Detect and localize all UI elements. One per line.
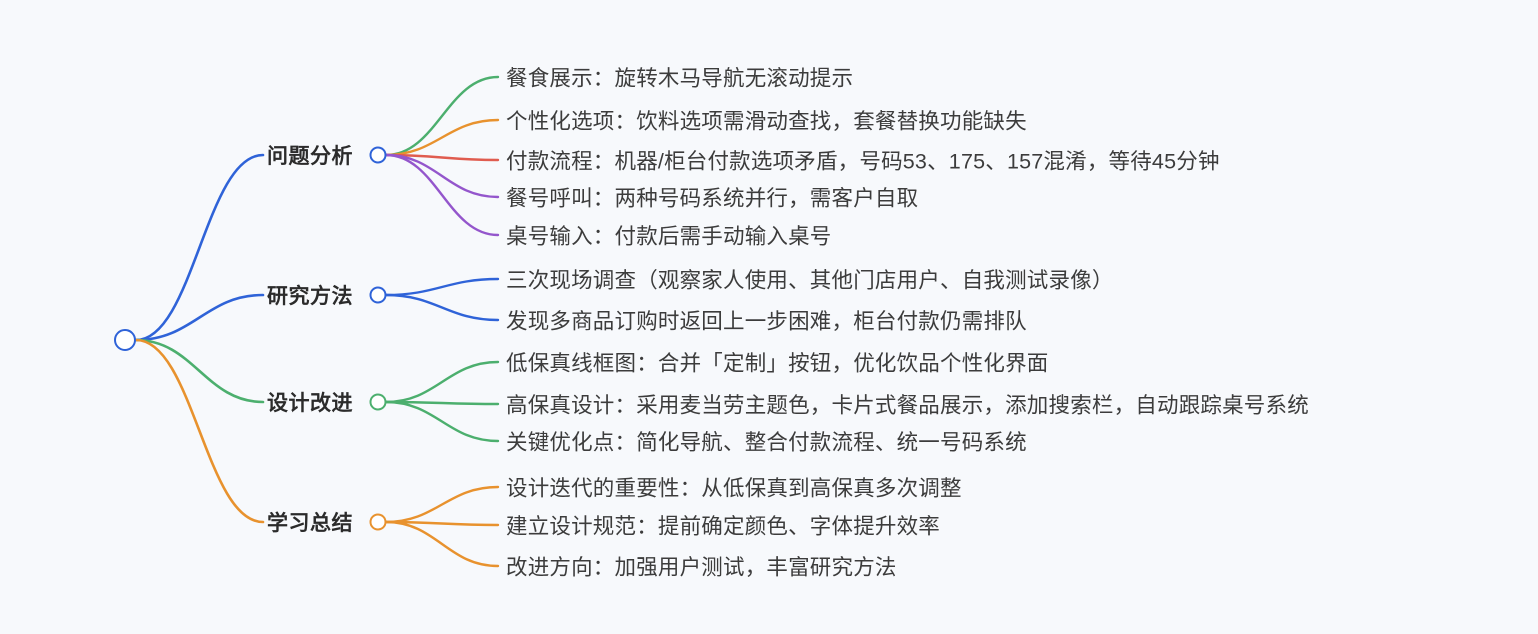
branch-0-leaf-edge-2 — [386, 155, 498, 160]
leaf-label-0-3[interactable]: 餐号呼叫：两种号码系统并行，需客户自取 — [506, 182, 918, 213]
branch-1-leaf-edge-0 — [386, 279, 498, 295]
leaf-label-1-1[interactable]: 发现多商品订购时返回上一步困难，柜台付款仍需排队 — [506, 305, 1027, 336]
branch-0-leaf-edge-4 — [386, 155, 498, 235]
branch-label-2[interactable]: 设计改进 — [267, 387, 353, 417]
root-to-branch-edge-0 — [136, 155, 263, 340]
branch-2-leaf-edge-0 — [386, 362, 498, 402]
leaf-label-2-0[interactable]: 低保真线框图：合并「定制」按钮，优化饮品个性化界面 — [506, 347, 1049, 378]
mindmap-canvas: 问题分析餐食展示：旋转木马导航无滚动提示个性化选项：饮料选项需滑动查找，套餐替换… — [0, 0, 1538, 634]
branch-0-leaf-edge-1 — [386, 120, 498, 155]
branch-2-leaf-edge-2 — [386, 402, 498, 441]
leaf-label-2-2[interactable]: 关键优化点：简化导航、整合付款流程、统一号码系统 — [506, 426, 1027, 457]
root-to-branch-edge-1 — [136, 295, 263, 340]
leaf-label-3-2[interactable]: 改进方向：加强用户测试，丰富研究方法 — [506, 551, 897, 582]
leaf-label-0-4[interactable]: 桌号输入：付款后需手动输入桌号 — [506, 220, 832, 251]
branch-3-leaf-edge-2 — [386, 522, 498, 566]
branch-3-leaf-edge-1 — [386, 522, 498, 525]
root-to-branch-edge-3 — [136, 340, 263, 522]
branch-label-3[interactable]: 学习总结 — [267, 507, 353, 537]
leaf-label-2-1[interactable]: 高保真设计：采用麦当劳主题色，卡片式餐品展示，添加搜索栏，自动跟踪桌号系统 — [506, 389, 1309, 420]
branch-label-0[interactable]: 问题分析 — [267, 140, 353, 170]
branch-1-leaf-edge-1 — [386, 295, 498, 320]
root-node-dot[interactable] — [114, 329, 136, 351]
branch-node-dot-0[interactable] — [370, 147, 387, 164]
branch-3-leaf-edge-0 — [386, 487, 498, 522]
leaf-label-0-0[interactable]: 餐食展示：旋转木马导航无滚动提示 — [506, 62, 853, 93]
branch-node-dot-2[interactable] — [370, 394, 387, 411]
branch-0-leaf-edge-0 — [386, 77, 498, 155]
leaf-label-1-0[interactable]: 三次现场调查（观察家人使用、其他门店用户、自我测试录像） — [506, 264, 1114, 295]
leaf-label-0-1[interactable]: 个性化选项：饮料选项需滑动查找，套餐替换功能缺失 — [506, 105, 1027, 136]
leaf-label-0-2[interactable]: 付款流程：机器/柜台付款选项矛盾，号码53、175、157混淆，等待45分钟 — [506, 145, 1220, 176]
branch-node-dot-3[interactable] — [370, 514, 387, 531]
branch-0-leaf-edge-3 — [386, 155, 498, 197]
branch-label-1[interactable]: 研究方法 — [267, 280, 353, 310]
branch-node-dot-1[interactable] — [370, 287, 387, 304]
leaf-label-3-0[interactable]: 设计迭代的重要性：从低保真到高保真多次调整 — [506, 472, 962, 503]
branch-2-leaf-edge-1 — [386, 402, 498, 404]
leaf-label-3-1[interactable]: 建立设计规范：提前确定颜色、字体提升效率 — [506, 510, 940, 541]
root-to-branch-edge-2 — [136, 340, 263, 402]
